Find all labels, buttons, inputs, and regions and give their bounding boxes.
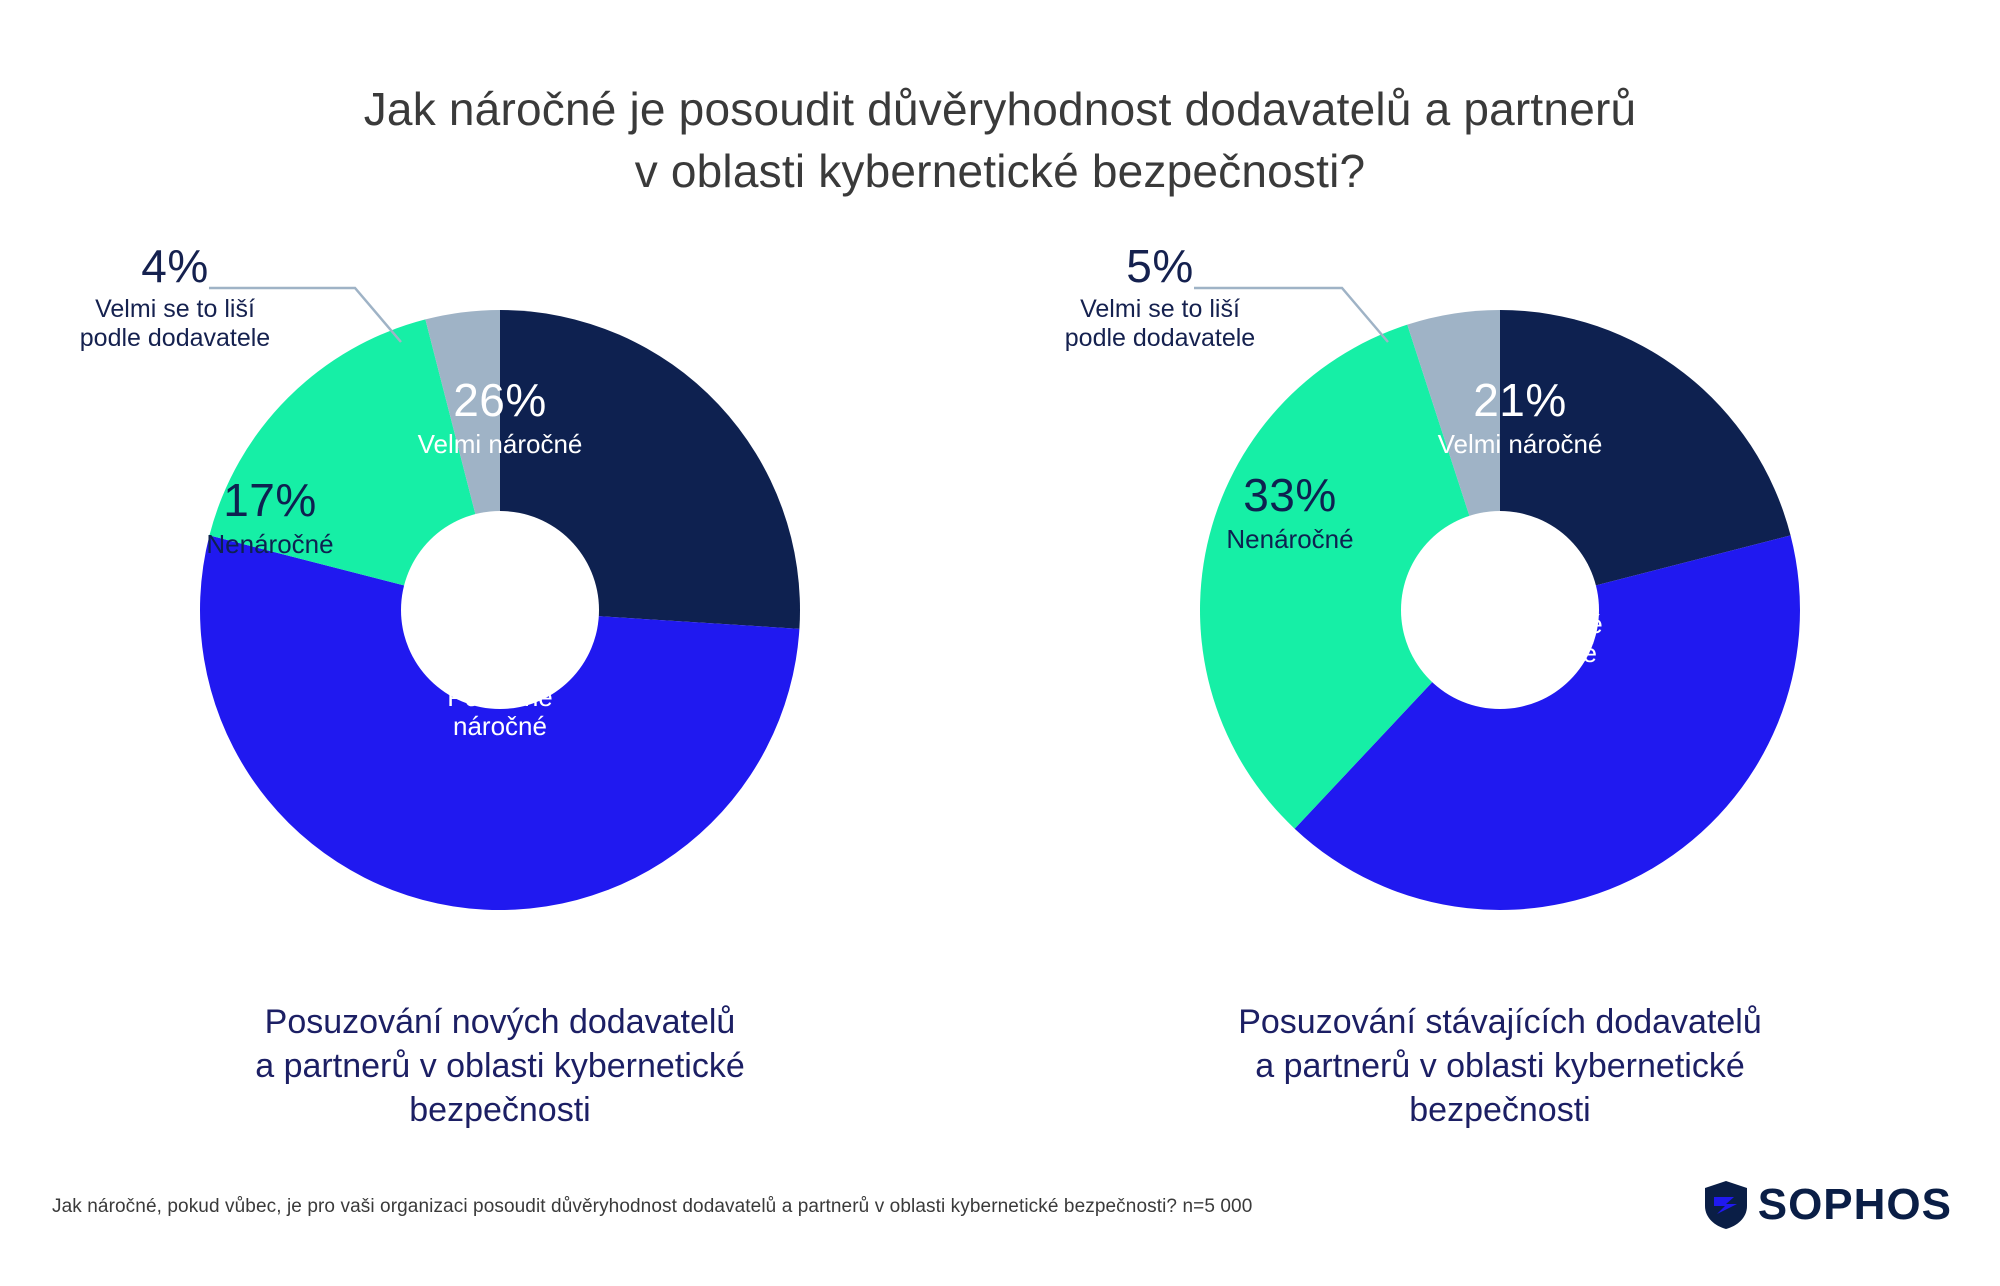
donut-left: 26% Velmi náročné 53% Poměrně náročné 17… bbox=[180, 290, 820, 930]
donut-right-svg bbox=[1180, 290, 1820, 930]
chart-left: 26% Velmi náročné 53% Poměrně náročné 17… bbox=[0, 290, 1000, 990]
callout-right-name-1: Velmi se to liší bbox=[995, 295, 1325, 324]
caption-right-line-2: a partnerů v oblasti kybernetické bbox=[1000, 1044, 2000, 1088]
chart-right: 21% Velmi náročné 41% Poměrně náročné 33… bbox=[1000, 290, 2000, 990]
caption-left: Posuzování nových dodavatelů a partnerů … bbox=[0, 1000, 1000, 1132]
page-title: Jak náročné je posoudit důvěryhodnost do… bbox=[0, 78, 2000, 202]
caption-left-line-3: bezpečnosti bbox=[0, 1088, 1000, 1132]
sophos-logo-text: SOPHOS bbox=[1758, 1180, 1952, 1230]
donut-hole bbox=[401, 511, 599, 709]
caption-right: Posuzování stávajících dodavatelů a part… bbox=[1000, 1000, 2000, 1132]
donut-hole bbox=[1401, 511, 1599, 709]
donut-right: 21% Velmi náročné 41% Poměrně náročné 33… bbox=[1180, 290, 1820, 930]
charts-container: 26% Velmi náročné 53% Poměrně náročné 17… bbox=[0, 290, 2000, 990]
donut-left-svg bbox=[180, 290, 820, 930]
callout-right-name-2: podle dodavatele bbox=[995, 324, 1325, 353]
callout-left-name-2: podle dodavatele bbox=[10, 324, 340, 353]
callout-right-pct: 5% bbox=[995, 240, 1325, 293]
page-title-line-2: v oblasti kybernetické bezpečnosti? bbox=[0, 140, 2000, 202]
sophos-logo: SOPHOS bbox=[1704, 1180, 1952, 1230]
sophos-shield-icon bbox=[1704, 1180, 1748, 1230]
callout-left-velmi-se-lisi: 4% Velmi se to liší podle dodavatele bbox=[10, 240, 340, 353]
caption-right-line-3: bezpečnosti bbox=[1000, 1088, 2000, 1132]
infographic-page: Jak náročné je posoudit důvěryhodnost do… bbox=[0, 0, 2000, 1286]
page-title-line-1: Jak náročné je posoudit důvěryhodnost do… bbox=[0, 78, 2000, 140]
caption-right-line-1: Posuzování stávajících dodavatelů bbox=[1000, 1000, 2000, 1044]
callout-left-pct: 4% bbox=[10, 240, 340, 293]
callout-left-name-1: Velmi se to liší bbox=[10, 295, 340, 324]
caption-left-line-1: Posuzování nových dodavatelů bbox=[0, 1000, 1000, 1044]
footer-source-note: Jak náročné, pokud vůbec, je pro vaši or… bbox=[52, 1196, 1252, 1218]
callout-right-velmi-se-lisi: 5% Velmi se to liší podle dodavatele bbox=[995, 240, 1325, 353]
caption-left-line-2: a partnerů v oblasti kybernetické bbox=[0, 1044, 1000, 1088]
